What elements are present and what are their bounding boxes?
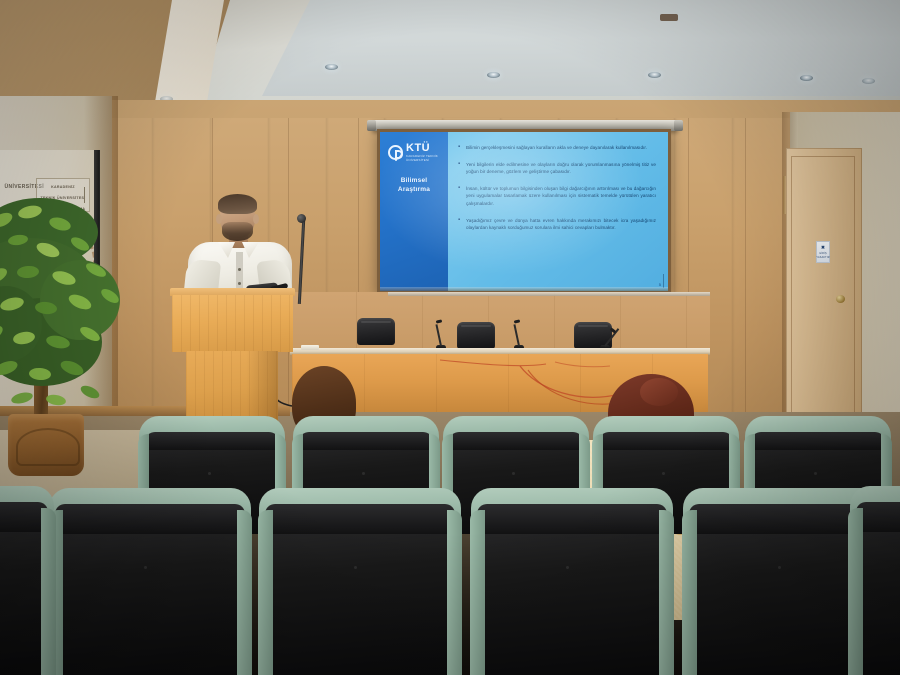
- bullet-marker-icon: ▪: [458, 185, 462, 208]
- slide-bullet: ▪ Bilimin gerçekleşmesini sağlayan kural…: [458, 144, 656, 152]
- auditorium-seat[interactable]: [60, 500, 240, 675]
- seat-side-left: [682, 510, 697, 675]
- seat-side-right: [237, 510, 252, 675]
- presenter-beard: [222, 222, 253, 241]
- seat-bolt: [362, 472, 365, 475]
- seat-bolt: [662, 472, 665, 475]
- seat-side-left: [470, 510, 485, 675]
- presenter-ear: [253, 214, 259, 224]
- projected-slide: KTÜ KARADENİZ TEKNİK ÜNİVERSİTESİ Bilims…: [380, 132, 668, 291]
- wall-seam: [745, 118, 746, 418]
- ktu-logo-icon: [388, 145, 403, 160]
- slide-body: ▪ Bilimin gerçekleşmesini sağlayan kural…: [448, 132, 668, 291]
- slide-bullet: ▪ Yaşadığımız çevre ve dünya hatta evren…: [458, 217, 656, 232]
- seat-bolt: [566, 566, 569, 569]
- seat-side-right: [659, 510, 674, 675]
- seat-headrest-trim: [745, 416, 891, 450]
- seat-headrest-trim: [139, 416, 285, 450]
- slide-page-rule: [663, 274, 664, 288]
- plant-foliage: [0, 192, 150, 432]
- door-sign-line1: GİRİŞ: [819, 252, 827, 255]
- slide-bullet-text: Bilimin gerçekleşmesini sağlayan kuralla…: [466, 144, 647, 152]
- seat-side-right: [447, 510, 462, 675]
- seat-bolt: [208, 472, 211, 475]
- door-sign: ✖ GİRİŞ YASAKTIR: [816, 241, 830, 263]
- head-table-rail: [388, 292, 710, 296]
- auditorium-seat[interactable]: [270, 500, 450, 675]
- screen-cap-right: [674, 120, 683, 131]
- seat-side-left: [848, 508, 863, 675]
- audience-2-hair-bun: [640, 378, 678, 406]
- lectern-shadow: [246, 351, 278, 426]
- shirt-button: [238, 282, 241, 285]
- slide-subtitle: Bilimsel Araştırma: [380, 176, 448, 194]
- ceiling-downlight: [487, 72, 500, 78]
- seat-headrest-trim: [293, 416, 439, 450]
- potted-plant: [0, 192, 150, 492]
- seat-side-right: [41, 508, 56, 675]
- slide-bullet: ▪ Yeni bilgilerin elde edilmesine ve ola…: [458, 161, 656, 176]
- seat-headrest-trim: [443, 416, 589, 450]
- door-sign-line2: YASAKTIR: [816, 256, 829, 259]
- auditorium-seat[interactable]: [482, 500, 662, 675]
- slide-wordmark: KTÜ KARADENİZ TEKNİK ÜNİVERSİTESİ: [406, 143, 442, 162]
- banner-card-line1: KARADENİZ: [37, 185, 89, 190]
- door-panel: [791, 156, 855, 430]
- seat-headrest-trim: [259, 488, 461, 534]
- panel-chair: [357, 318, 395, 345]
- ceiling-downlight: [800, 75, 813, 81]
- ceiling-vent: [660, 14, 678, 21]
- lectern: [170, 288, 295, 426]
- bullet-marker-icon: ▪: [458, 161, 462, 176]
- seat-headrest-trim: [471, 488, 673, 534]
- screen-bottom-edge: [380, 287, 668, 291]
- door[interactable]: ✖ GİRİŞ YASAKTIR: [786, 148, 862, 440]
- ceiling-downlight: [648, 72, 661, 78]
- seat-bolt: [778, 566, 781, 569]
- seat-headrest-trim: [593, 416, 739, 450]
- auditorium-seat[interactable]: [860, 498, 900, 675]
- slide-bullet: ▪ İnsan, kültür ve toplumun bilgisinden …: [458, 185, 656, 208]
- seat-bolt: [354, 566, 357, 569]
- slide-bullet-text: Yaşadığımız çevre ve dünya hatta evren h…: [466, 217, 656, 232]
- head-table-back-panel: [290, 292, 710, 350]
- screen-cap-left: [367, 120, 376, 131]
- bullet-marker-icon: ▪: [458, 217, 462, 232]
- door-handle-icon[interactable]: [836, 295, 845, 303]
- door-hinge: [783, 176, 786, 214]
- floor-microphone-head: [297, 214, 306, 223]
- auditorium-seat[interactable]: [694, 500, 874, 675]
- slide-subtitle-line2: Araştırma: [380, 185, 448, 194]
- projection-screen: KTÜ KARADENİZ TEKNİK ÜNİVERSİTESİ Bilims…: [377, 129, 671, 294]
- ceiling-downlight: [862, 78, 875, 84]
- seat-bolt: [512, 472, 515, 475]
- wall-seam: [358, 118, 359, 298]
- seat-headrest-trim: [49, 488, 251, 534]
- presenter-ear: [216, 214, 222, 224]
- ceiling-light-strip: [262, 0, 900, 96]
- bullet-marker-icon: ▪: [458, 144, 462, 152]
- slide-wordmark-text: KTÜ: [406, 142, 430, 154]
- slide-bullet-text: Yeni bilgilerin elde edilmesine ve olayl…: [466, 161, 656, 176]
- slide-bullet-text: İnsan, kültür ve toplumun bilgisinden ol…: [466, 185, 656, 208]
- seat-bolt: [144, 566, 147, 569]
- no-entry-icon: ✖: [821, 246, 825, 251]
- slide-logo: KTÜ KARADENİZ TEKNİK ÜNİVERSİTESİ: [388, 142, 442, 162]
- panel-chair: [457, 322, 495, 349]
- presenter-hair: [218, 194, 257, 214]
- slide-sidebar: KTÜ KARADENİZ TEKNİK ÜNİVERSİTESİ Bilims…: [380, 132, 448, 291]
- seat-bolt: [814, 472, 817, 475]
- shirt-button: [238, 268, 241, 271]
- seat-side-left: [258, 510, 273, 675]
- lectern-face: [172, 295, 293, 352]
- ceiling-downlight: [325, 64, 338, 70]
- slide-wordmark-sub: KARADENİZ TEKNİK ÜNİVERSİTESİ: [406, 154, 442, 162]
- slide-subtitle-line1: Bilimsel: [380, 176, 448, 185]
- auditorium-seat[interactable]: [0, 498, 44, 675]
- conference-hall-photo: ÜNİVERSİTESİ KARADENİZ TEKNİK ÜNİVERSİTE…: [0, 0, 900, 675]
